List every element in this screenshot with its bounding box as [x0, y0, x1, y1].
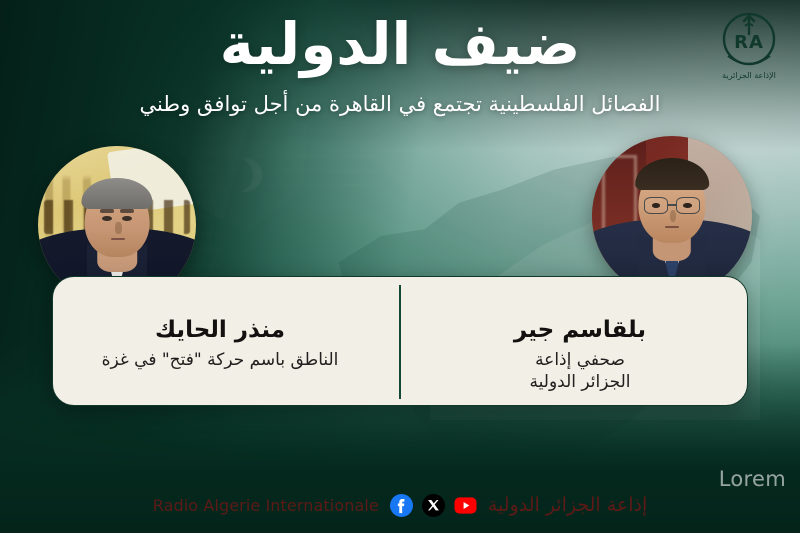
poster-canvas: RA الإذاعة الجزائرية ضيف الدولية الفصائل… — [0, 0, 800, 533]
x-twitter-icon[interactable] — [422, 494, 445, 517]
brand-name-latin: Radio Algerie Internationale — [153, 496, 379, 515]
guest-name-right: بلقاسم جير — [420, 316, 740, 345]
brand-name-arabic: إذاعة الجزائر الدولية — [488, 494, 647, 516]
page-subtitle: الفصائل الفلسطينية تجتمع في القاهرة من أ… — [0, 92, 800, 116]
guest-name-left: منذر الحايك — [60, 316, 380, 345]
youtube-icon[interactable] — [454, 494, 477, 517]
guest-role-right: صحفي إذاعة الجزائر الدولية — [420, 349, 740, 394]
page-title: ضيف الدولية — [0, 14, 800, 75]
guest-portrait-right — [592, 136, 752, 296]
facebook-icon[interactable] — [390, 494, 413, 517]
guest-info-left: منذر الحايك الناطق باسم حركة "فتح" في غز… — [60, 316, 380, 371]
guest-info-right: بلقاسم جير صحفي إذاعة الجزائر الدولية — [420, 316, 740, 394]
card-divider — [399, 285, 401, 399]
footer-branding-bar: Radio Algerie Internationale إذاعة الجزا… — [0, 477, 800, 533]
guest-role-left: الناطق باسم حركة "فتح" في غزة — [60, 349, 380, 371]
social-links — [390, 494, 477, 517]
